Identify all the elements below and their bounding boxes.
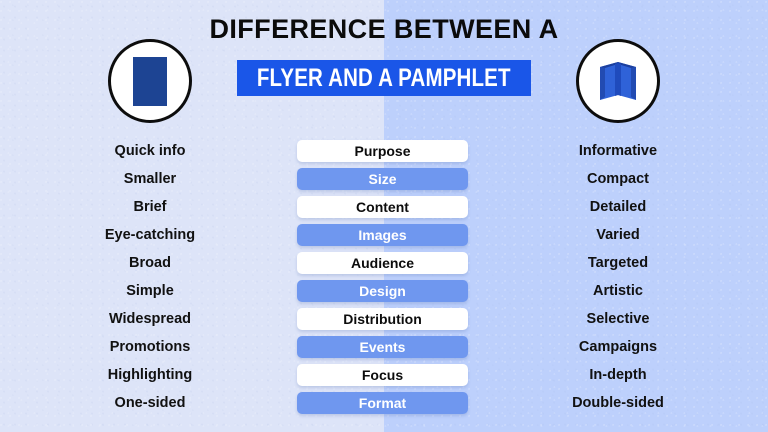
flyer-value: Eye-catching — [20, 224, 280, 246]
attribute-pill[interactable]: Events — [297, 336, 468, 358]
banner-label: FLYER AND A PAMPHLET — [257, 65, 511, 91]
table-row: Smaller Size Compact — [0, 168, 768, 190]
flyer-value: One-sided — [20, 392, 280, 414]
table-row: One-sided Format Double-sided — [0, 392, 768, 414]
pamphlet-value: Detailed — [488, 196, 748, 218]
table-row: Eye-catching Images Varied — [0, 224, 768, 246]
attribute-pill[interactable]: Focus — [297, 364, 468, 386]
attribute-pill[interactable]: Purpose — [297, 140, 468, 162]
pamphlet-icon-badge — [576, 39, 660, 123]
pamphlet-value: Compact — [488, 168, 748, 190]
flyer-value: Promotions — [20, 336, 280, 358]
flyer-value: Widespread — [20, 308, 280, 330]
title-banner: FLYER AND A PAMPHLET — [237, 60, 531, 96]
flyer-value: Broad — [20, 252, 280, 274]
pamphlet-value: Targeted — [488, 252, 748, 274]
table-row: Promotions Events Campaigns — [0, 336, 768, 358]
attribute-pill[interactable]: Format — [297, 392, 468, 414]
attribute-pill[interactable]: Size — [297, 168, 468, 190]
flyer-value: Smaller — [20, 168, 280, 190]
attribute-pill[interactable]: Images — [297, 224, 468, 246]
pamphlet-value: In-depth — [488, 364, 748, 386]
page-title: DIFFERENCE BETWEEN A — [0, 13, 768, 45]
attribute-pill[interactable]: Design — [297, 280, 468, 302]
pamphlet-value: Double-sided — [488, 392, 748, 414]
attribute-pill[interactable]: Audience — [297, 252, 468, 274]
pamphlet-value: Artistic — [488, 280, 748, 302]
infographic-canvas: DIFFERENCE BETWEEN A FLYER AND A PAMPHLE… — [0, 0, 768, 432]
table-row: Broad Audience Targeted — [0, 252, 768, 274]
flyer-value: Brief — [20, 196, 280, 218]
pamphlet-value: Varied — [488, 224, 748, 246]
flyer-value: Highlighting — [20, 364, 280, 386]
flyer-value: Simple — [20, 280, 280, 302]
comparison-rows: Quick info Purpose Informative Smaller S… — [0, 140, 768, 420]
table-row: Highlighting Focus In-depth — [0, 364, 768, 386]
pamphlet-value: Campaigns — [488, 336, 748, 358]
table-row: Simple Design Artistic — [0, 280, 768, 302]
flyer-icon-badge — [108, 39, 192, 123]
table-row: Quick info Purpose Informative — [0, 140, 768, 162]
flyer-sheet-icon — [133, 57, 167, 106]
pamphlet-value: Informative — [488, 140, 748, 162]
attribute-pill[interactable]: Content — [297, 196, 468, 218]
table-row: Widespread Distribution Selective — [0, 308, 768, 330]
pamphlet-value: Selective — [488, 308, 748, 330]
table-row: Brief Content Detailed — [0, 196, 768, 218]
flyer-value: Quick info — [20, 140, 280, 162]
attribute-pill[interactable]: Distribution — [297, 308, 468, 330]
open-pamphlet-icon — [595, 55, 641, 107]
